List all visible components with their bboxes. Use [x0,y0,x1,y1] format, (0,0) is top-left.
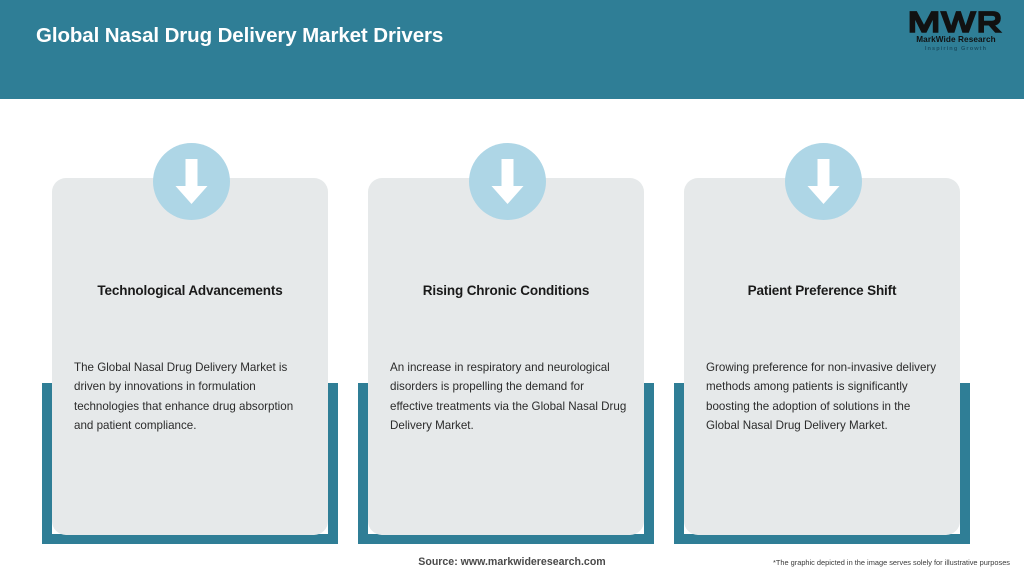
frame-bottom-bar [42,534,338,544]
card-title: Rising Chronic Conditions [368,283,644,298]
frame-left-bar [42,383,52,544]
card-panel: Technological Advancements The Global Na… [52,178,328,535]
card-body-text: Growing preference for non-invasive deli… [706,358,946,435]
card-panel: Rising Chronic Conditions An increase in… [368,178,644,535]
frame-right-bar [328,383,338,544]
frame-bottom-bar [674,534,970,544]
disclaimer-label: *The graphic depicted in the image serve… [773,558,1010,567]
card-body-text: An increase in respiratory and neurologi… [390,358,630,435]
driver-card-1[interactable]: Technological Advancements The Global Na… [42,143,338,545]
frame-right-bar [644,383,654,544]
down-arrow-icon [469,143,546,220]
card-title: Technological Advancements [52,283,328,298]
frame-left-bar [358,383,368,544]
down-arrow-glyph [807,159,840,205]
card-title: Patient Preference Shift [684,283,960,298]
frame-left-bar [674,383,684,544]
driver-card-3[interactable]: Patient Preference Shift Growing prefere… [674,143,970,545]
driver-cards-container: Technological Advancements The Global Na… [0,0,1024,576]
down-arrow-icon [785,143,862,220]
frame-bottom-bar [358,534,654,544]
down-arrow-icon [153,143,230,220]
card-panel: Patient Preference Shift Growing prefere… [684,178,960,535]
frame-right-bar [960,383,970,544]
down-arrow-glyph [175,159,208,205]
down-arrow-glyph [491,159,524,205]
driver-card-2[interactable]: Rising Chronic Conditions An increase in… [358,143,654,545]
card-body-text: The Global Nasal Drug Delivery Market is… [74,358,314,435]
